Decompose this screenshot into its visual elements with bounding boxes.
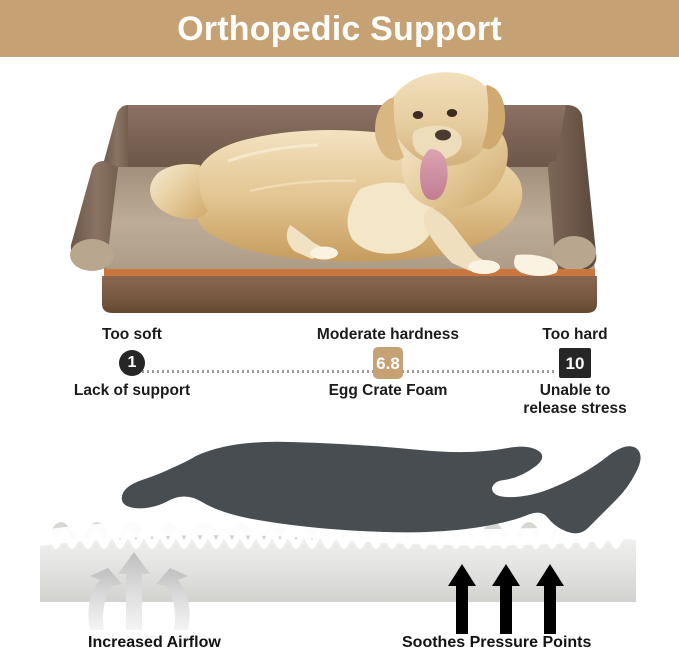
foam-diagram-illustration bbox=[0, 434, 679, 634]
scale-badge-wrap: 10 bbox=[475, 346, 675, 380]
scale-badge-wrap: 1 bbox=[32, 346, 232, 380]
dog-second-paw bbox=[310, 247, 338, 260]
bed-right-bolster-cap bbox=[552, 236, 596, 270]
scale-stop-top-label: Moderate hardness bbox=[288, 326, 488, 343]
infographic-page: Orthopedic Support bbox=[0, 0, 679, 654]
scale-stop-bottom-label: Unable to release stress bbox=[475, 382, 675, 419]
scale-badge-wrap: 6.8 bbox=[288, 346, 488, 380]
scale-stop-bottom-line: release stress bbox=[475, 400, 675, 418]
foam-diagram: Increased Airflow Soothes Pressure Point… bbox=[0, 434, 679, 654]
dog-left-eye bbox=[413, 111, 423, 119]
bed-left-bolster-cap bbox=[70, 239, 114, 271]
scale-badge-value-10: 10 bbox=[559, 348, 591, 378]
scale-stop-bottom-label: Egg Crate Foam bbox=[288, 382, 488, 400]
caption-soothes-pressure-points: Soothes Pressure Points bbox=[402, 634, 591, 652]
dog-front-paw bbox=[468, 260, 500, 274]
scale-stop-moderate: Moderate hardness 6.8 Egg Crate Foam bbox=[288, 326, 488, 400]
scale-stop-bottom-label: Lack of support bbox=[32, 382, 232, 400]
scale-stop-too-hard: Too hard 10 Unable to release stress bbox=[475, 326, 675, 419]
caption-increased-airflow: Increased Airflow bbox=[88, 634, 221, 652]
scale-badge-value-68: 6.8 bbox=[373, 347, 403, 379]
bed-base bbox=[102, 276, 597, 313]
scale-stop-top-label: Too soft bbox=[32, 326, 232, 343]
scale-badge-value-1: 1 bbox=[119, 350, 145, 376]
hardness-scale: Too soft 1 Lack of support Moderate hard… bbox=[0, 326, 679, 434]
scale-stop-top-label: Too hard bbox=[475, 326, 675, 343]
scale-stop-bottom-line: Egg Crate Foam bbox=[288, 382, 488, 400]
scale-stop-too-soft: Too soft 1 Lack of support bbox=[32, 326, 232, 400]
scale-stop-bottom-line: Unable to bbox=[475, 382, 675, 400]
scale-stop-bottom-line: Lack of support bbox=[32, 382, 232, 400]
dog-nose bbox=[435, 130, 451, 141]
page-title: Orthopedic Support bbox=[177, 12, 502, 46]
dog-right-eye bbox=[447, 109, 457, 117]
pressure-arrow-group bbox=[448, 564, 564, 634]
product-photo bbox=[0, 57, 679, 322]
header-banner: Orthopedic Support bbox=[0, 0, 679, 57]
product-photo-illustration bbox=[0, 57, 679, 322]
